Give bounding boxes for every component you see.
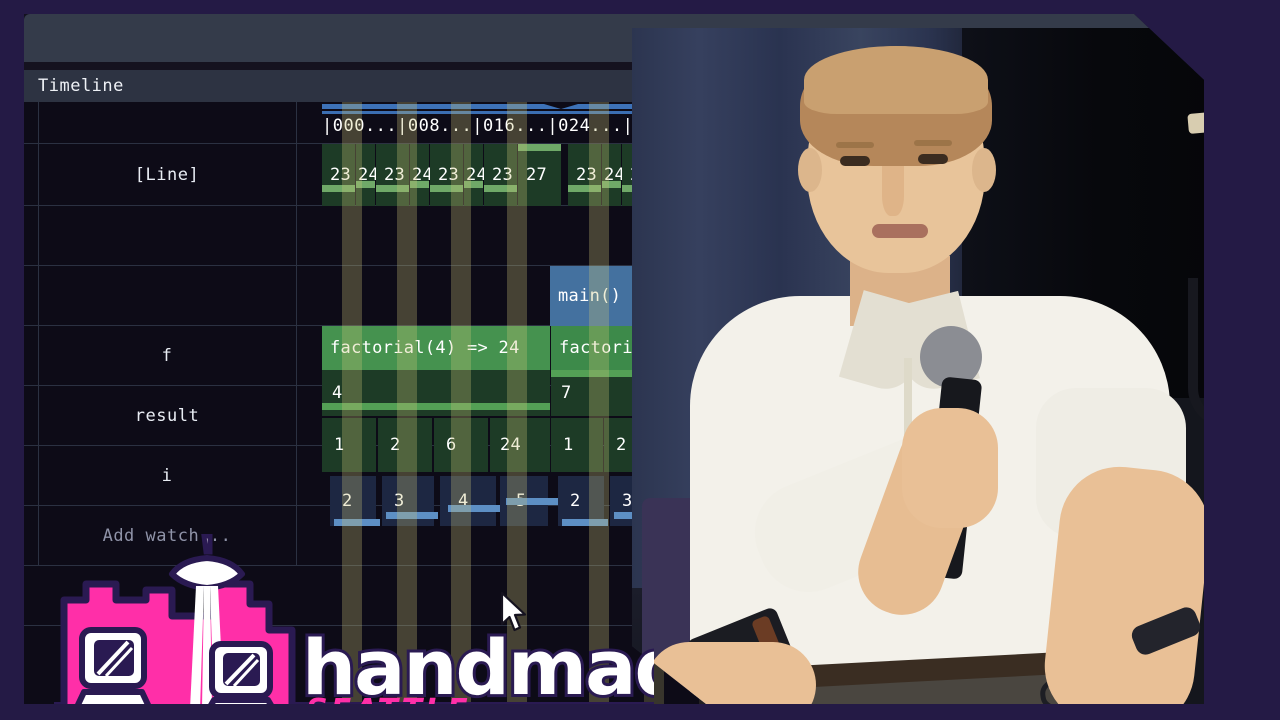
f-cell-value: 4 <box>322 383 343 403</box>
line-cell[interactable]: 24 <box>410 144 429 206</box>
line-cell-value: 23 <box>322 165 351 185</box>
call-block-factorial4[interactable]: factorial(4) => 24 <box>322 326 550 370</box>
speaker-hand-right <box>902 408 998 528</box>
speaker-eyebrow-right <box>914 140 952 146</box>
line-cell[interactable]: 27 <box>518 144 561 206</box>
speaker-ear-left <box>798 148 822 192</box>
logo-subtitle: SEATTLE <box>306 693 471 704</box>
i-cell[interactable]: 2 <box>330 476 376 526</box>
row-label-result-text: result <box>135 406 199 426</box>
line-cell[interactable]: 23 <box>430 144 463 206</box>
row-label-result[interactable]: result <box>38 386 296 446</box>
speaker-eyebrow-left <box>836 142 874 148</box>
speaker-nose <box>882 166 904 216</box>
speaker-eye-right <box>918 154 948 164</box>
line-cell-value: 23 <box>430 165 459 185</box>
row-label-line[interactable]: [Line] <box>38 144 296 206</box>
result-cell-value: 2 <box>378 435 401 455</box>
line-cell-value: 27 <box>518 165 547 185</box>
result-cell[interactable]: 1 <box>551 418 603 472</box>
row-label-line-text: [Line] <box>135 165 199 185</box>
i-cell[interactable]: 5 <box>500 476 548 526</box>
logo-monitor-right <box>207 644 275 704</box>
line-cell-value: 23 <box>376 165 405 185</box>
speaker-video[interactable] <box>632 28 1204 704</box>
i-cell[interactable]: 4 <box>440 476 496 526</box>
f-cell[interactable]: 4 <box>322 370 550 416</box>
row-label-i[interactable]: i <box>38 446 296 506</box>
f-cell-value: 7 <box>551 383 572 403</box>
speaker-hair-highlight <box>804 46 988 114</box>
handmade-seattle-logo: handmade SEATTLE <box>54 534 654 704</box>
timeline-title: Timeline <box>24 76 124 96</box>
line-cell[interactable]: 23 <box>568 144 601 206</box>
result-cell-value: 24 <box>490 435 521 455</box>
line-cell-value: 23 <box>484 165 513 185</box>
ide-window: Timeline [Line] f result i Add watch... <box>24 14 1204 704</box>
result-cell-value: 6 <box>434 435 457 455</box>
mouse-cursor <box>500 592 530 634</box>
line-cell[interactable]: 23 <box>484 144 517 206</box>
result-cell-value: 1 <box>322 435 345 455</box>
result-cell[interactable]: 24 <box>490 418 550 472</box>
row-label-i-text: i <box>162 466 173 486</box>
line-cell[interactable]: 24 <box>356 144 375 206</box>
i-cell-value: 3 <box>610 491 633 511</box>
call-block-factorial4-label: factorial(4) => 24 <box>322 338 520 358</box>
result-cell-value: 1 <box>551 435 574 455</box>
result-cell-value: 2 <box>604 435 627 455</box>
logo-monitor-left <box>76 630 150 704</box>
i-cell-value: 2 <box>558 491 581 511</box>
line-cell[interactable]: 24 <box>602 144 621 206</box>
line-cell[interactable]: 23 <box>322 144 355 206</box>
speaker-mouth <box>872 224 928 238</box>
i-cell[interactable]: 3 <box>382 476 434 526</box>
line-cell-value: 23 <box>568 165 597 185</box>
logo-wordmark: handmade <box>302 623 654 704</box>
speaker-eye-left <box>840 156 870 166</box>
row-label-f[interactable]: f <box>38 326 296 386</box>
row-label-f-text: f <box>162 346 173 366</box>
line-cell[interactable]: 23 <box>376 144 409 206</box>
i-cell[interactable]: 2 <box>558 476 604 526</box>
speaker-ear-right <box>972 148 996 192</box>
call-block-main-label: main() <box>550 286 621 306</box>
line-cell[interactable]: 24 <box>464 144 483 206</box>
i-cell-value: 3 <box>382 491 405 511</box>
result-cell[interactable]: 6 <box>434 418 488 472</box>
i-cell-value: 2 <box>330 491 353 511</box>
cursor-arrow-icon <box>502 593 525 630</box>
result-cell[interactable]: 2 <box>378 418 432 472</box>
result-cell[interactable]: 1 <box>322 418 376 472</box>
